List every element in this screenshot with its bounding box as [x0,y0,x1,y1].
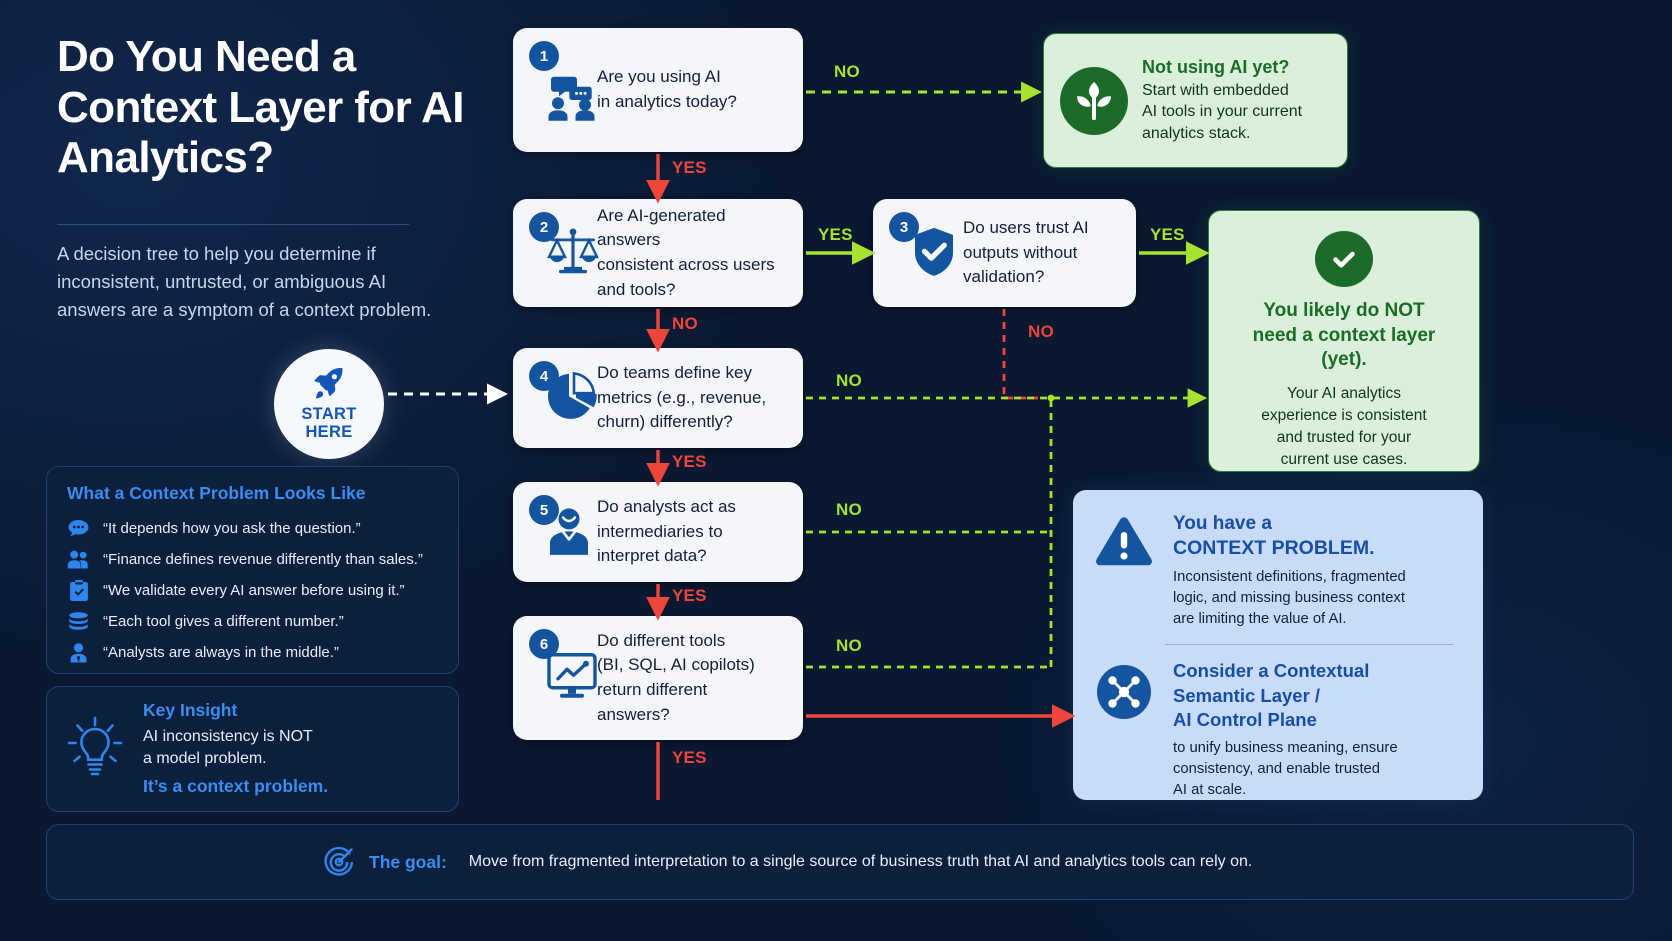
not-using-ai-line1: Start with embedded [1142,80,1302,102]
page-subtitle: A decision tree to help you determine if… [57,240,457,324]
edge-label-node5-no: NO [836,500,862,520]
no-context-body-line3: and trusted for your [1261,427,1426,449]
warning-triangle-icon [1095,512,1157,630]
context-problem-body-line1: Inconsistent definitions, fragmented [1173,567,1406,588]
infographic-canvas: Do You Need a Context Layer for AI Analy… [0,0,1672,941]
decision-node-4[interactable]: 4 Do teams define key metrics (e.g., rev… [513,348,803,448]
node-text-line: (BI, SQL, AI copilots) [597,653,755,678]
scales-icon [546,227,600,282]
node-text-line: Do teams define key [597,361,766,386]
edge-label-node2-yes: YES [818,225,853,245]
consider-body-line2: consistency, and enable trusted [1173,759,1398,780]
node-text-line: Are AI-generated answers [597,204,789,253]
list-item: “We validate every AI answer before usin… [67,575,438,606]
analyst-icon [546,506,592,561]
node-text-line: and tools? [597,278,789,303]
node-text-line: Are you using AI [597,65,737,90]
no-context-body-line4: current use cases. [1261,449,1426,471]
title-divider [57,224,409,225]
list-item: “Finance defines revenue differently tha… [67,544,438,575]
context-problem-symptoms-card: What a Context Problem Looks Like “It de… [46,466,459,674]
list-item: “Each tool gives a different number.” [67,606,438,637]
not-using-ai-line2: AI tools in your current [1142,101,1302,123]
symptom-text: “Analysts are always in the middle.” [103,644,339,661]
symptom-text: “It depends how you ask the question.” [103,520,361,537]
node-text-line: answers? [597,703,755,728]
decision-node-1[interactable]: 1 Are you using AI in analytics today? [513,28,803,152]
decision-node-2[interactable]: 2 Are AI-generated answers consistent ac… [513,199,803,307]
page-title: Do You Need a Context Layer for AI Analy… [57,32,517,184]
node-text-line: Do different tools [597,629,755,654]
node-text-line: Do users trust AI [963,216,1089,241]
edge-label-node3-yes: YES [1150,225,1185,245]
outcome-no-context-layer-card: You likely do NOT need a context layer (… [1208,210,1480,472]
key-insight-card: Key Insight AI inconsistency is NOT a mo… [46,686,459,812]
no-context-heading-line2: need a context layer [1253,324,1436,349]
monitor-chart-icon [546,652,598,705]
edge-label-node4-no: NO [836,371,862,391]
node-text-line: outputs without [963,241,1089,266]
key-insight-line2: a model problem. [143,748,328,770]
node-text-line: churn) differently? [597,410,766,435]
list-item: “Analysts are always in the middle.” [67,637,438,668]
symptom-text: “Finance defines revenue differently tha… [103,551,423,568]
edge-label-node1-yes: YES [672,158,707,178]
symptoms-heading: What a Context Problem Looks Like [67,483,438,504]
consider-body-line1: to unify business meaning, ensure [1173,738,1398,759]
people-icon [67,550,90,569]
no-context-heading-line1: You likely do NOT [1253,299,1436,324]
start-here-badge[interactable]: START HERE [274,349,384,459]
check-circle-icon [1315,231,1373,287]
key-insight-line1: AI inconsistency is NOT [143,726,328,748]
context-problem-body-line3: are limiting the value of AI. [1173,609,1406,630]
consider-body-line3: AI at scale. [1173,780,1398,801]
context-problem-heading-line2: CONTEXT PROBLEM. [1173,536,1406,560]
decision-node-5[interactable]: 5 Do analysts act as intermediaries to i… [513,482,803,582]
seedling-icon [1060,67,1128,135]
decision-node-3[interactable]: 3 Do users trust AI outputs without vali… [873,199,1136,307]
not-using-ai-line3: analytics stack. [1142,123,1302,145]
edge-label-node2-no: NO [672,314,698,334]
symptom-text: “Each tool gives a different number.” [103,613,344,630]
edge-label-node4-yes: YES [672,452,707,472]
edge-label-node3-no: NO [1028,322,1054,342]
card-divider [1165,644,1453,645]
not-using-ai-heading: Not using AI yet? [1142,57,1302,78]
network-nodes-icon [1095,659,1157,801]
no-context-body-line1: Your AI analytics [1261,383,1426,405]
no-context-heading-line3: (yet). [1253,348,1436,373]
chat-bubble-icon [67,520,90,537]
symptom-text: “We validate every AI answer before usin… [103,582,405,599]
goal-text: Move from fragmented interpretation to a… [469,853,1253,871]
edge-junction-dot [1048,395,1055,402]
decision-node-6[interactable]: 6 Do different tools (BI, SQL, AI copilo… [513,616,803,740]
list-item: “It depends how you ask the question.” [67,513,438,544]
database-icon [67,612,90,631]
edge-label-node6-no: NO [836,636,862,656]
discussion-icon [546,75,598,128]
start-here-line2: HERE [301,424,356,442]
start-here-line1: START [301,406,356,424]
node-text-line: interpret data? [597,544,736,569]
no-context-body-line2: experience is consistent [1261,405,1426,427]
target-icon [323,846,357,878]
edge-label-node5-yes: YES [672,586,707,606]
edge-label-node6-yes: YES [672,748,707,768]
rocket-icon [311,366,347,405]
lightbulb-icon [65,716,127,783]
node-text-line: Do analysts act as [597,495,736,520]
node-text-line: intermediaries to [597,520,736,545]
context-problem-body-line2: logic, and missing business context [1173,588,1406,609]
consider-heading-line3: AI Control Plane [1173,708,1398,732]
key-insight-heading: Key Insight [143,699,328,723]
node-number: 1 [529,41,559,71]
goal-label: The goal: [369,852,447,873]
node-text-line: metrics (e.g., revenue, [597,386,766,411]
consider-heading-line1: Consider a Contextual [1173,659,1398,683]
outcome-context-problem-card: You have a CONTEXT PROBLEM. Inconsistent… [1073,490,1483,800]
symptoms-list: “It depends how you ask the question.” “… [67,513,438,668]
node-text-line: validation? [963,265,1089,290]
shield-check-icon [913,227,955,282]
edge-label-node1-no: NO [834,62,860,82]
pie-chart-icon [546,372,598,427]
person-icon [67,643,90,663]
outcome-not-using-ai-card: Not using AI yet? Start with embedded AI… [1043,33,1348,168]
node-text-line: consistent across users [597,253,789,278]
goal-bar: The goal: Move from fragmented interpret… [46,824,1634,900]
context-problem-heading-line1: You have a [1173,512,1406,536]
key-insight-emphasis: It’s a context problem. [143,775,328,799]
clipboard-check-icon [67,580,90,601]
node-text-line: in analytics today? [597,90,737,115]
node-text-line: return different [597,678,755,703]
consider-heading-line2: Semantic Layer / [1173,684,1398,708]
